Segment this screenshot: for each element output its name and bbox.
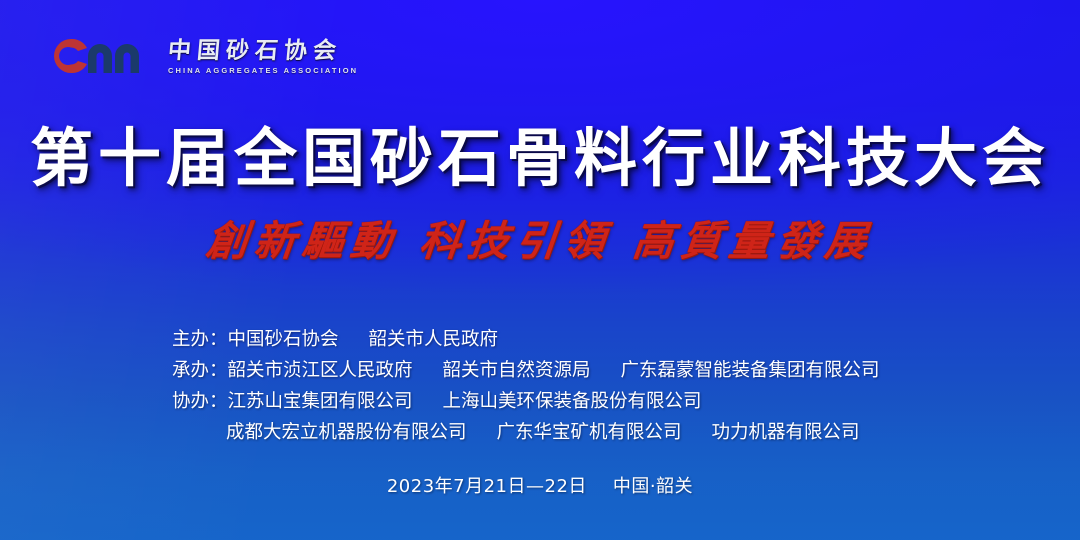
organizer-name: 韶关市人民政府 <box>369 329 499 350</box>
event-date-location: 2023年7月21日—22日中国·韶关 <box>0 472 1080 498</box>
organizer-line: 协办：江苏山宝集团有限公司上海山美环保装备股份有限公司 <box>172 386 932 417</box>
organizer-name: 广东磊蒙智能装备集团有限公司 <box>621 360 880 381</box>
event-date: 2023年7月21日—22日 <box>387 476 587 497</box>
organizer-name: 中国砂石协会 <box>228 329 339 350</box>
caa-logo-mark-icon <box>40 33 158 79</box>
caa-logo-english-name: CHINA AGGREGATES ASSOCIATION <box>168 66 358 75</box>
conference-slogan: 創新驅動 科技引領 高質量發展 <box>0 207 1080 267</box>
organizer-line: 成都大宏立机器股份有限公司广东华宝矿机有限公司功力机器有限公司 <box>172 417 932 448</box>
organizer-name: 上海山美环保装备股份有限公司 <box>443 391 702 412</box>
caa-logo-chinese-name: 中国砂石协会 <box>167 39 359 63</box>
organizer-role-label: 主办： <box>172 329 228 350</box>
conference-main-title: 第十届全国砂石骨料行业科技大会 <box>0 108 1080 199</box>
organizer-name: 江苏山宝集团有限公司 <box>228 391 413 412</box>
organizer-name: 成都大宏立机器股份有限公司 <box>226 422 467 443</box>
organizer-name: 功力机器有限公司 <box>712 422 860 443</box>
event-location: 中国·韶关 <box>613 476 693 497</box>
organizer-role-label: 承办： <box>172 360 228 381</box>
caa-logo: 中国砂石协会 CHINA AGGREGATES ASSOCIATION <box>40 30 358 82</box>
organizer-line: 主办：中国砂石协会韶关市人民政府 <box>172 324 932 355</box>
organizers-block: 主办：中国砂石协会韶关市人民政府承办：韶关市浈江区人民政府韶关市自然资源局广东磊… <box>172 324 932 448</box>
caa-logo-text: 中国砂石协会 CHINA AGGREGATES ASSOCIATION <box>168 32 358 80</box>
organizer-name: 广东华宝矿机有限公司 <box>497 422 682 443</box>
conference-banner: 中国砂石协会 CHINA AGGREGATES ASSOCIATION 第十届全… <box>0 0 1080 540</box>
organizer-line: 承办：韶关市浈江区人民政府韶关市自然资源局广东磊蒙智能装备集团有限公司 <box>172 355 932 386</box>
organizer-name: 韶关市自然资源局 <box>443 360 591 381</box>
organizer-role-label: 协办： <box>172 391 228 412</box>
organizer-name: 韶关市浈江区人民政府 <box>228 360 413 381</box>
